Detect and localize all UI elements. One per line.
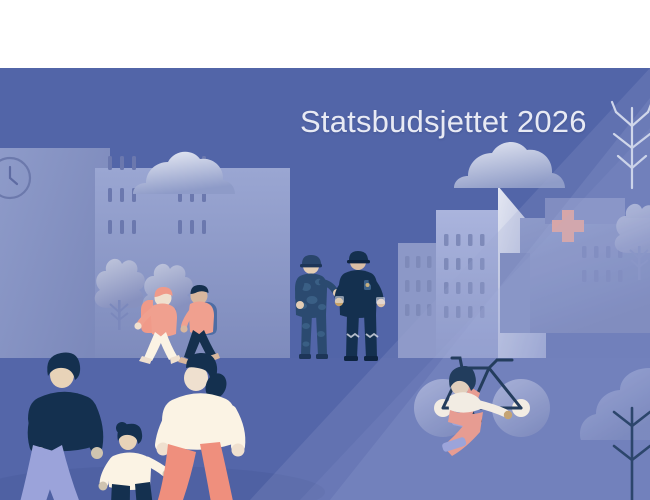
office-building-left xyxy=(0,148,290,378)
city-street-scene-svg xyxy=(0,68,650,500)
window-group-right-1 xyxy=(405,256,432,316)
top-white-band xyxy=(0,0,650,68)
page-root: Statsbudsjettet 2026 xyxy=(0,0,650,500)
hero-illustration xyxy=(0,68,650,500)
